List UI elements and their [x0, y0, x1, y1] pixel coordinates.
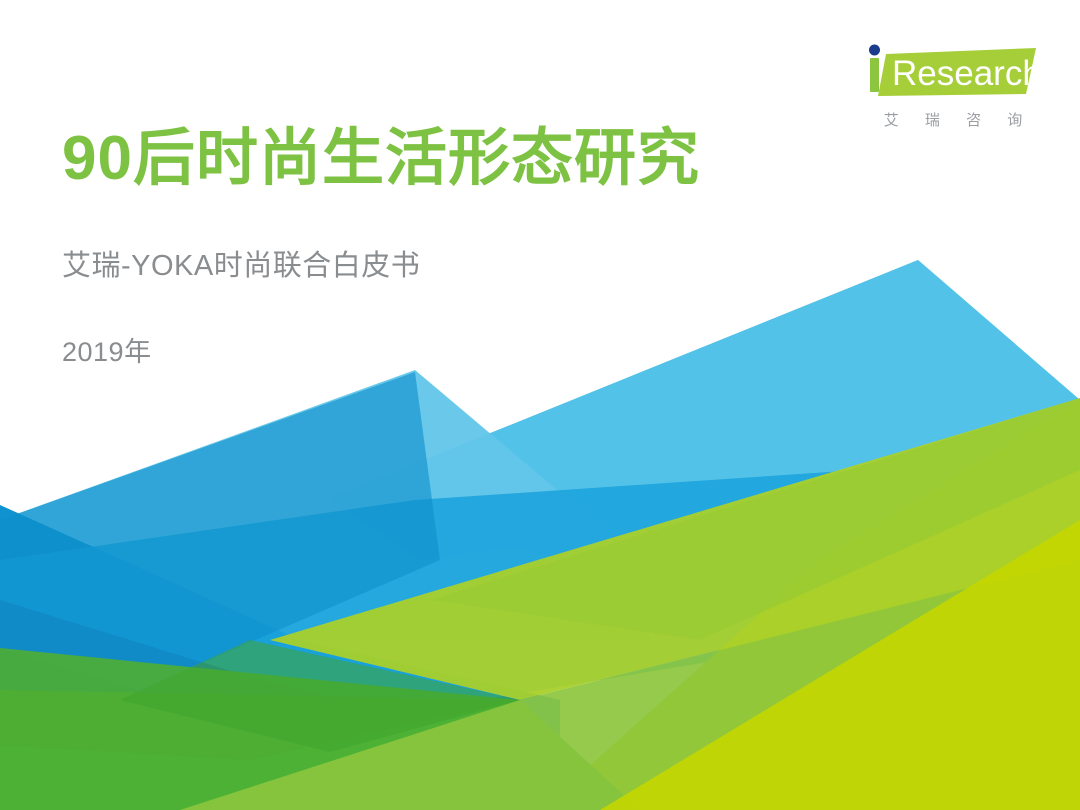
subtitle: 艾瑞-YOKA时尚联合白皮书 [62, 193, 822, 284]
year-label: 2019年 [62, 284, 822, 368]
logo-dot-icon [869, 45, 880, 56]
title-block: 90后时尚生活形态研究 艾瑞-YOKA时尚联合白皮书 2019年 [62, 126, 822, 368]
logo-letter-i-stem [870, 58, 879, 92]
iresearch-logo: Research 艾 瑞 咨 询 [864, 38, 1042, 130]
logo-mark: Research [864, 38, 1042, 100]
logo-wordmark-text: Research [892, 54, 1042, 93]
slide-canvas: 90后时尚生活形态研究 艾瑞-YOKA时尚联合白皮书 2019年 Researc… [0, 0, 1080, 810]
page-title: 90后时尚生活形态研究 [62, 126, 822, 193]
logo-chinese-name: 艾 瑞 咨 询 [864, 100, 1042, 130]
